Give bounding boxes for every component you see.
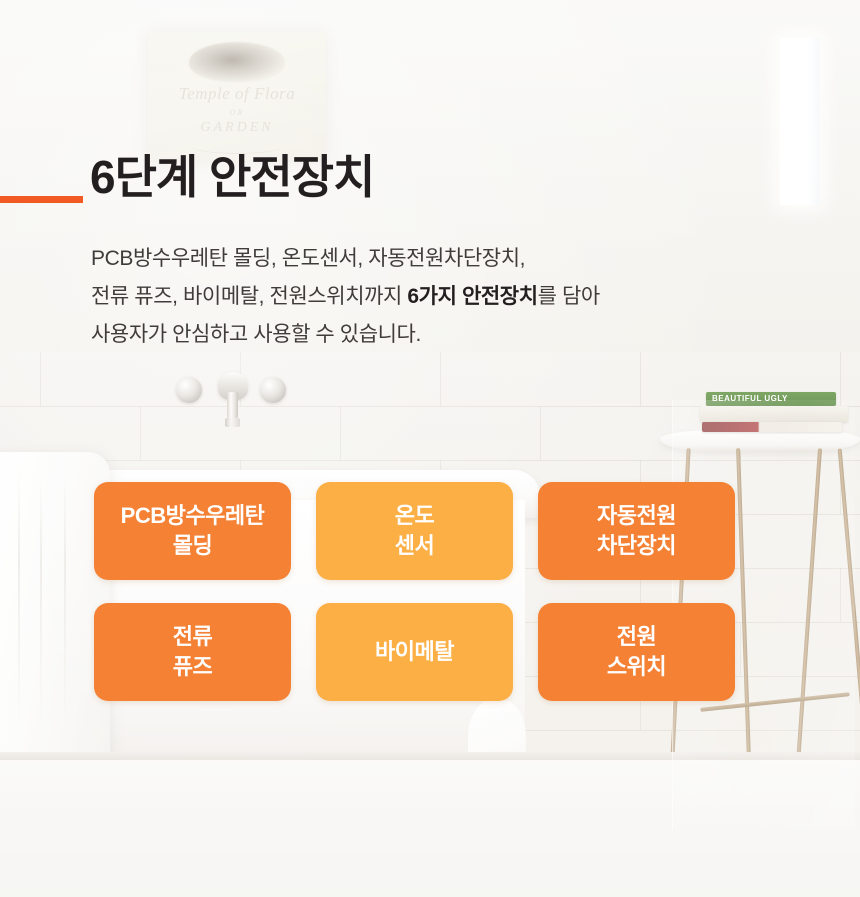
description-line-2-post: 를 담아 bbox=[538, 285, 600, 308]
section-heading: 6단계 안전장치 bbox=[90, 148, 374, 206]
badge-power-switch[interactable]: 전원 스위치 bbox=[538, 603, 735, 701]
promo-section: Temple of Flora OR GARDEN bbox=[0, 0, 860, 897]
description-line-1: PCB방수우레탄 몰딩, 온도센서, 자동전원차단장치, bbox=[91, 240, 751, 278]
badge-pcb-urethane-molding[interactable]: PCB방수우레탄 몰딩 bbox=[94, 482, 291, 580]
badge-temperature-sensor[interactable]: 온도 센서 bbox=[316, 482, 513, 580]
section-description: PCB방수우레탄 몰딩, 온도센서, 자동전원차단장치, 전류 퓨즈, 바이메탈… bbox=[91, 240, 751, 354]
description-line-2-pre: 전류 퓨즈, 바이메탈, 전원스위치까지 bbox=[91, 285, 407, 308]
badge-bimetal[interactable]: 바이메탈 bbox=[316, 603, 513, 701]
accent-rule bbox=[0, 196, 83, 203]
description-highlight: 6가지 안전장치 bbox=[407, 285, 537, 308]
badge-current-fuse[interactable]: 전류 퓨즈 bbox=[94, 603, 291, 701]
section-content: 6단계 안전장치 PCB방수우레탄 몰딩, 온도센서, 자동전원차단장치, 전류… bbox=[0, 0, 860, 897]
description-line-2: 전류 퓨즈, 바이메탈, 전원스위치까지 6가지 안전장치를 담아 bbox=[91, 278, 751, 316]
safety-feature-badges: PCB방수우레탄 몰딩 온도 센서 자동전원 차단장치 전류 퓨즈 바이메탈 전… bbox=[94, 482, 735, 701]
description-line-3: 사용자가 안심하고 사용할 수 있습니다. bbox=[91, 316, 751, 354]
badge-auto-power-cutoff[interactable]: 자동전원 차단장치 bbox=[538, 482, 735, 580]
